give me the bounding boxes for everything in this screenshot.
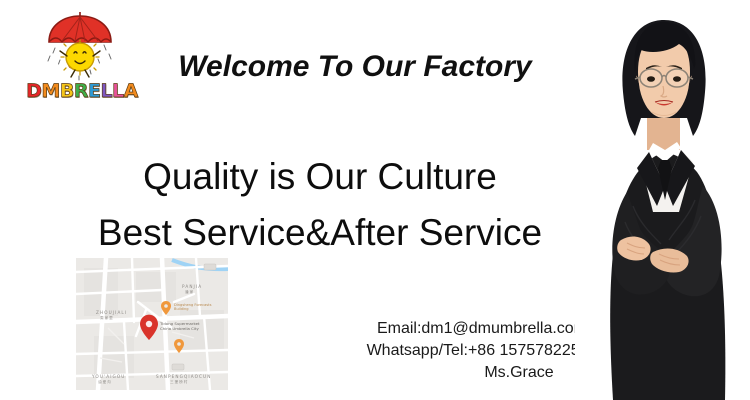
sales-representative-photo <box>575 0 750 400</box>
svg-text:YOU'AIGOU: YOU'AIGOU <box>91 374 125 379</box>
slogan-quality: Quality is Our Culture <box>70 155 570 199</box>
svg-text:Building: Building <box>174 307 189 311</box>
svg-text:周家里: 周家里 <box>100 315 114 320</box>
svg-text:SANPENGQIAOCUN: SANPENGQIAOCUN <box>156 374 211 379</box>
svg-text:China Umbrella City: China Umbrella City <box>160 326 199 331</box>
logo-letter-6: L <box>112 80 124 102</box>
logo-wordmark: DMBRELLA <box>22 80 142 102</box>
slogan-service: Best Service&After Service <box>40 211 600 255</box>
logo-letter-2: B <box>60 80 74 102</box>
logo-letter-1: M <box>41 80 59 102</box>
headline-welcome: Welcome To Our Factory <box>150 50 560 84</box>
svg-text:三蓬桥村: 三蓬桥村 <box>170 379 188 384</box>
logo-letter-3: R <box>74 80 88 102</box>
logo-letter-4: E <box>88 80 100 102</box>
svg-text:潘家: 潘家 <box>185 289 194 294</box>
logo-letter-7: A <box>124 80 138 102</box>
svg-text:PANJIA: PANJIA <box>182 284 202 289</box>
logo-letter-0: D <box>26 80 41 102</box>
map-thumbnail: Dingsheng Forecasts Building Tidong Supe… <box>76 258 228 390</box>
sun-with-umbrella-icon <box>38 12 122 82</box>
company-logo: DMBRELLA <box>22 12 142 104</box>
logo-letter-5: L <box>100 80 112 102</box>
svg-text:ZHOUJIALI: ZHOUJIALI <box>96 310 127 315</box>
svg-text:油爱沟: 油爱沟 <box>98 379 112 384</box>
promo-banner: DMBRELLA Welcome To Our Factory Quality … <box>0 0 750 400</box>
